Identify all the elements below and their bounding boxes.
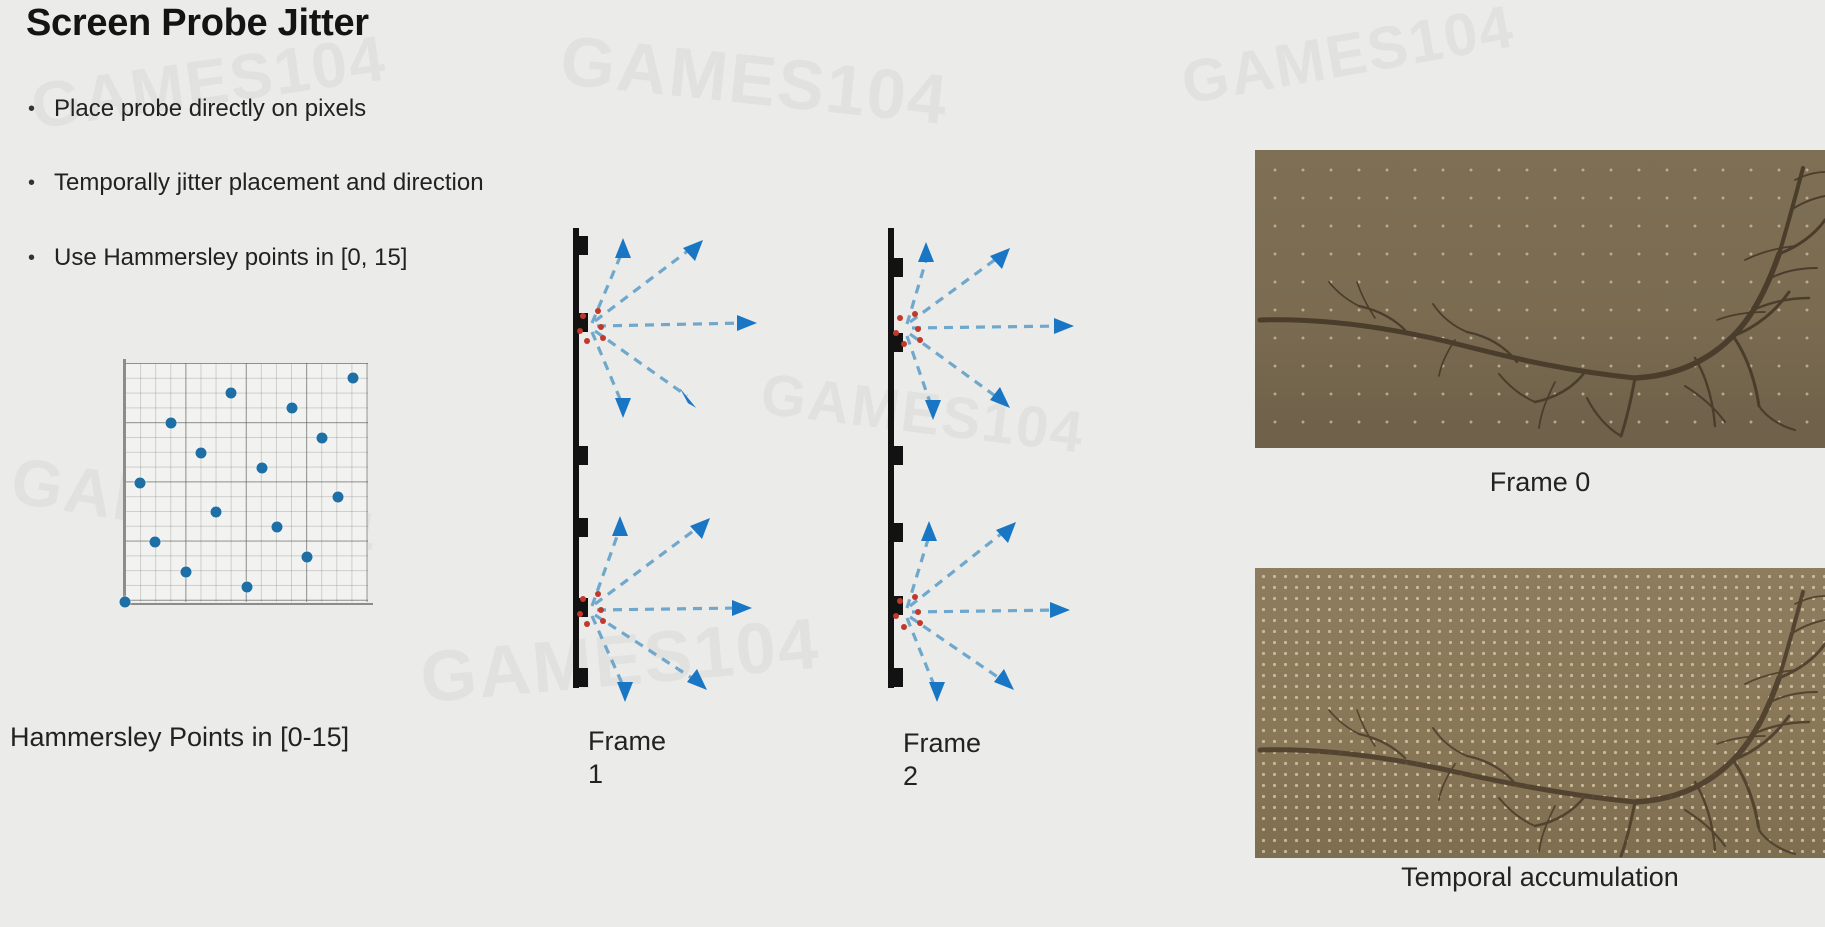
- watermark-2: GAMES104: [557, 20, 953, 140]
- probe-dot: [901, 341, 907, 347]
- frame-2-rays: [880, 228, 1140, 698]
- scatter-point: [332, 492, 343, 503]
- render-temporal-accumulation: [1255, 568, 1825, 858]
- probe-dot: [893, 613, 899, 619]
- probe-dot: [595, 308, 601, 314]
- scatter-point: [135, 477, 146, 488]
- bullet-item-0: • Place probe directly on pixels: [28, 96, 366, 122]
- probe-dot: [600, 335, 606, 341]
- scatter-point: [347, 372, 358, 383]
- scatter-points-layer: [125, 363, 368, 602]
- watermark-3: GAMES104: [1177, 0, 1520, 118]
- scatter-point: [120, 597, 131, 608]
- scatter-point: [180, 567, 191, 578]
- scatter-point: [211, 507, 222, 518]
- page-title: Screen Probe Jitter: [26, 2, 369, 45]
- probe-dot: [580, 596, 586, 602]
- probe-dot: [580, 313, 586, 319]
- frame-1-diagram: [565, 228, 825, 698]
- probe-dot: [917, 337, 923, 343]
- frame-2-label-line2: 2: [903, 760, 981, 793]
- probe-dot: [598, 607, 604, 613]
- probe-dot: [915, 326, 921, 332]
- probe-dot: [893, 330, 899, 336]
- scatter-caption: Hammersley Points in [0-15]: [10, 722, 430, 753]
- render-frame-0: [1255, 150, 1825, 448]
- probe-dot: [912, 311, 918, 317]
- scatter-point: [271, 522, 282, 533]
- scatter-point: [165, 417, 176, 428]
- tree-branches-temporal: [1255, 568, 1825, 858]
- probe-dot: [912, 594, 918, 600]
- probe-dot: [577, 328, 583, 334]
- bullet-marker: •: [28, 170, 54, 196]
- probe-dot: [577, 611, 583, 617]
- render-temporal-caption: Temporal accumulation: [1255, 862, 1825, 893]
- bullet-text: Place probe directly on pixels: [54, 96, 366, 122]
- bullet-text: Use Hammersley points in [0, 15]: [54, 245, 407, 271]
- frame-1-rays: [565, 228, 825, 698]
- scatter-point: [226, 387, 237, 398]
- hammersley-scatter-plot: [118, 363, 368, 608]
- bullet-item-1: • Temporally jitter placement and direct…: [28, 170, 484, 196]
- tree-branches-frame-0: [1255, 150, 1825, 448]
- probe-dot: [598, 324, 604, 330]
- bullet-item-2: • Use Hammersley points in [0, 15]: [28, 245, 407, 271]
- scatter-point: [241, 582, 252, 593]
- frame-1-label-line2: 1: [588, 758, 666, 791]
- frame-2-diagram: [880, 228, 1140, 698]
- bullet-marker: •: [28, 245, 54, 271]
- probe-dot: [917, 620, 923, 626]
- frame-1-label-line1: Frame: [588, 725, 666, 758]
- scatter-point: [195, 447, 206, 458]
- bullet-text: Temporally jitter placement and directio…: [54, 170, 484, 196]
- render-frame-0-caption: Frame 0: [1255, 467, 1825, 498]
- scatter-point: [302, 552, 313, 563]
- probe-dot: [595, 591, 601, 597]
- probe-dot: [584, 621, 590, 627]
- frame-2-label: Frame 2: [903, 727, 981, 793]
- x-axis: [123, 603, 373, 605]
- probe-dot: [915, 609, 921, 615]
- probe-dot: [901, 624, 907, 630]
- scatter-point: [287, 402, 298, 413]
- scatter-point: [317, 432, 328, 443]
- probe-dot: [584, 338, 590, 344]
- frame-2-label-line1: Frame: [903, 727, 981, 760]
- frame-1-label: Frame 1: [588, 725, 666, 791]
- scatter-point: [256, 462, 267, 473]
- bullet-marker: •: [28, 96, 54, 122]
- probe-dot: [897, 598, 903, 604]
- probe-dot: [600, 618, 606, 624]
- probe-dot: [897, 315, 903, 321]
- scatter-point: [150, 537, 161, 548]
